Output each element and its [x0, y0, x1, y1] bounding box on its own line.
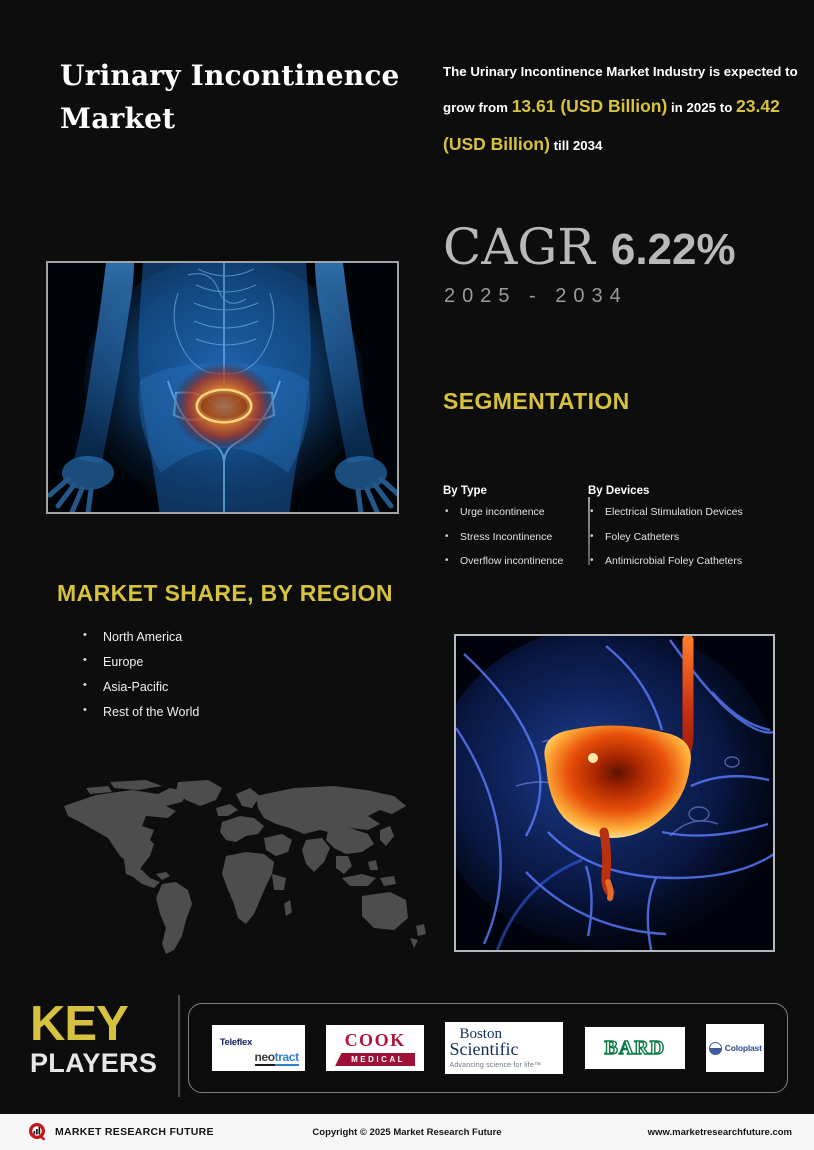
infographic-page: Urinary Incontinence Market The Urinary … [0, 0, 814, 1150]
footer-brand: MARKET RESEARCH FUTURE [28, 1122, 214, 1142]
logo-coloplast-word: Coloplast [725, 1043, 762, 1053]
list-item: Antimicrobial Foley Catheters [588, 556, 803, 568]
torso-xray-svg [48, 263, 399, 514]
list-item: Asia-Pacific [83, 680, 199, 694]
world-map [50, 778, 442, 962]
logo-coloplast: Coloplast [706, 1024, 764, 1072]
cagr-label: CAGR [443, 218, 611, 276]
key-players-logo-box: Teleflex neotract COOK MEDICAL Boston Sc… [188, 1003, 788, 1093]
market-research-future-logo-icon [28, 1122, 48, 1142]
cagr-block: CAGR 6.22% [443, 222, 736, 272]
logo-teleflex-top: Teleflex [220, 1037, 252, 1048]
footer-copyright: Copyright © 2025 Market Research Future [312, 1127, 501, 1138]
logo-cook-band: MEDICAL [335, 1053, 415, 1066]
key-players-line1: KEY [30, 1002, 175, 1047]
intro-line2-post: in 2025 [667, 100, 716, 115]
footer-website[interactable]: www.marketresearchfuture.com [648, 1127, 792, 1138]
logo-neotract-neo: neo [255, 1050, 275, 1066]
logo-teleflex: Teleflex neotract [212, 1025, 305, 1071]
cagr-value: 6.22% [611, 225, 736, 274]
world-map-svg [50, 778, 442, 962]
segmentation-list: Electrical Stimulation Devices Foley Cat… [588, 507, 803, 568]
intro-paragraph: The Urinary Incontinence Market Industry… [443, 58, 801, 163]
value-2025: 13.61 (USD Billion) [512, 96, 668, 116]
segmentation-columns: By Type Urge incontinence Stress Inconti… [443, 485, 803, 581]
logo-bard-word: BARD [605, 1037, 666, 1060]
logo-boston-line2: Scientific [449, 1041, 518, 1058]
logo-boston-scientific: Boston Scientific Advancing science for … [445, 1022, 563, 1074]
list-item: Urge incontinence [443, 507, 588, 519]
market-share-heading: MARKET SHARE, BY REGION [57, 580, 393, 607]
key-players-separator [178, 995, 180, 1097]
key-players-line2: PLAYERS [30, 1047, 175, 1081]
list-item: North America [83, 630, 199, 644]
list-item: Foley Catheters [588, 532, 803, 544]
key-players-heading: KEY PLAYERS [30, 1002, 175, 1081]
torso-xray-image [46, 261, 399, 514]
logo-bard: BARD [585, 1027, 685, 1069]
bladder-anatomy-image [454, 634, 775, 952]
list-item: Europe [83, 655, 199, 669]
list-item: Electrical Stimulation Devices [588, 507, 803, 519]
segmentation-column-by-type: By Type Urge incontinence Stress Inconti… [443, 485, 588, 581]
intro-line1: The Urinary Incontinence Market Industry… [443, 64, 781, 79]
bladder-anatomy-svg [456, 636, 775, 952]
logo-boston-tagline: Advancing science for life™ [449, 1062, 541, 1069]
segmentation-column-title: By Type [443, 485, 588, 497]
list-item: Rest of the World [83, 705, 199, 719]
region-list: North America Europe Asia-Pacific Rest o… [83, 630, 199, 730]
logo-cook-medical: COOK MEDICAL [326, 1025, 424, 1071]
footer: MARKET RESEARCH FUTURE Copyright © 2025 … [0, 1114, 814, 1150]
footer-brand-name: MARKET RESEARCH FUTURE [55, 1126, 214, 1138]
list-item: Overflow incontinence [443, 556, 588, 568]
cagr-period: 2025 - 2034 [444, 285, 628, 308]
logo-cook-word: COOK [345, 1030, 406, 1051]
intro-line3-pre: to [720, 100, 736, 115]
intro-line3-post: till 2034 [550, 138, 602, 153]
page-title: Urinary Incontinence Market [60, 55, 400, 141]
logo-teleflex-bottom: neotract [255, 1050, 299, 1064]
segmentation-column-title: By Devices [588, 485, 803, 497]
coloplast-mark-icon [709, 1042, 722, 1055]
segmentation-list: Urge incontinence Stress Incontinence Ov… [443, 507, 588, 568]
segmentation-heading: SEGMENTATION [443, 388, 630, 415]
logo-neotract-tract: tract [275, 1050, 299, 1066]
segmentation-column-by-devices: By Devices Electrical Stimulation Device… [588, 485, 803, 581]
list-item: Stress Incontinence [443, 532, 588, 544]
